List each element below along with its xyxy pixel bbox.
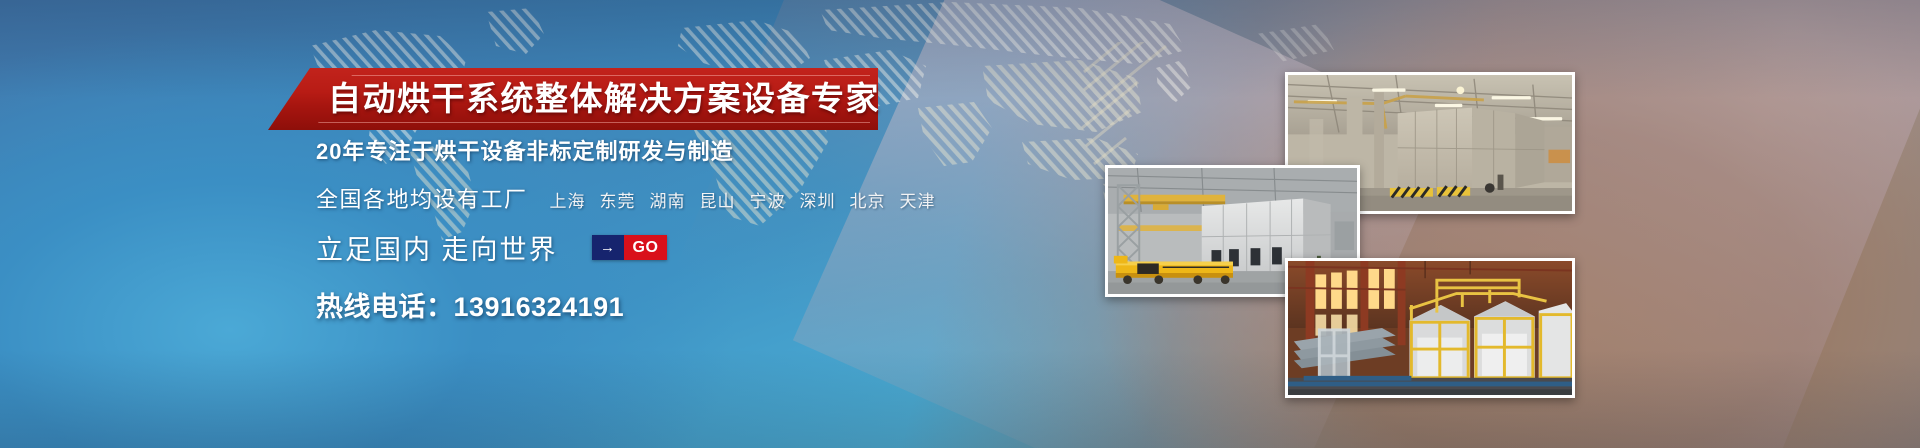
city-item: 昆山 (700, 187, 736, 212)
city-item: 湖南 (650, 187, 686, 212)
photo-drying-oven-assembly-workshop (1285, 258, 1575, 398)
city-item: 上海 (550, 187, 586, 212)
city-item: 北京 (850, 187, 886, 212)
city-list: 上海 东莞 湖南 昆山 宁波 深圳 北京 天津 (550, 187, 936, 212)
page-title: 自动烘干系统整体解决方案设备专家 (328, 68, 880, 130)
city-item: 东莞 (600, 187, 636, 212)
factories-line: 全国各地均设有工厂 上海 东莞 湖南 昆山 宁波 深圳 北京 天津 (316, 182, 1076, 214)
go-button-label: GO (624, 235, 668, 260)
promotional-banner: 自动烘干系统整体解决方案设备专家 20年专注于烘干设备非标定制研发与制造 全国各… (0, 0, 1920, 448)
city-item: 天津 (900, 187, 936, 212)
city-item: 深圳 (800, 187, 836, 212)
slogan-text: 立足国内 走向世界 (316, 228, 558, 267)
copy-block: 20年专注于烘干设备非标定制研发与制造 全国各地均设有工厂 上海 东莞 湖南 昆… (316, 134, 1076, 324)
go-button[interactable]: → GO (592, 235, 668, 260)
city-item: 宁波 (750, 187, 786, 212)
slogan-line: 立足国内 走向世界 → GO (316, 228, 1076, 267)
factories-lead: 全国各地均设有工厂 (316, 182, 528, 214)
subtitle: 20年专注于烘干设备非标定制研发与制造 (316, 134, 1076, 166)
hotline-text: 热线电话：13916324191 (316, 285, 1076, 324)
arrow-right-icon: → (592, 235, 624, 260)
title-ribbon: 自动烘干系统整体解决方案设备专家 (268, 68, 878, 130)
